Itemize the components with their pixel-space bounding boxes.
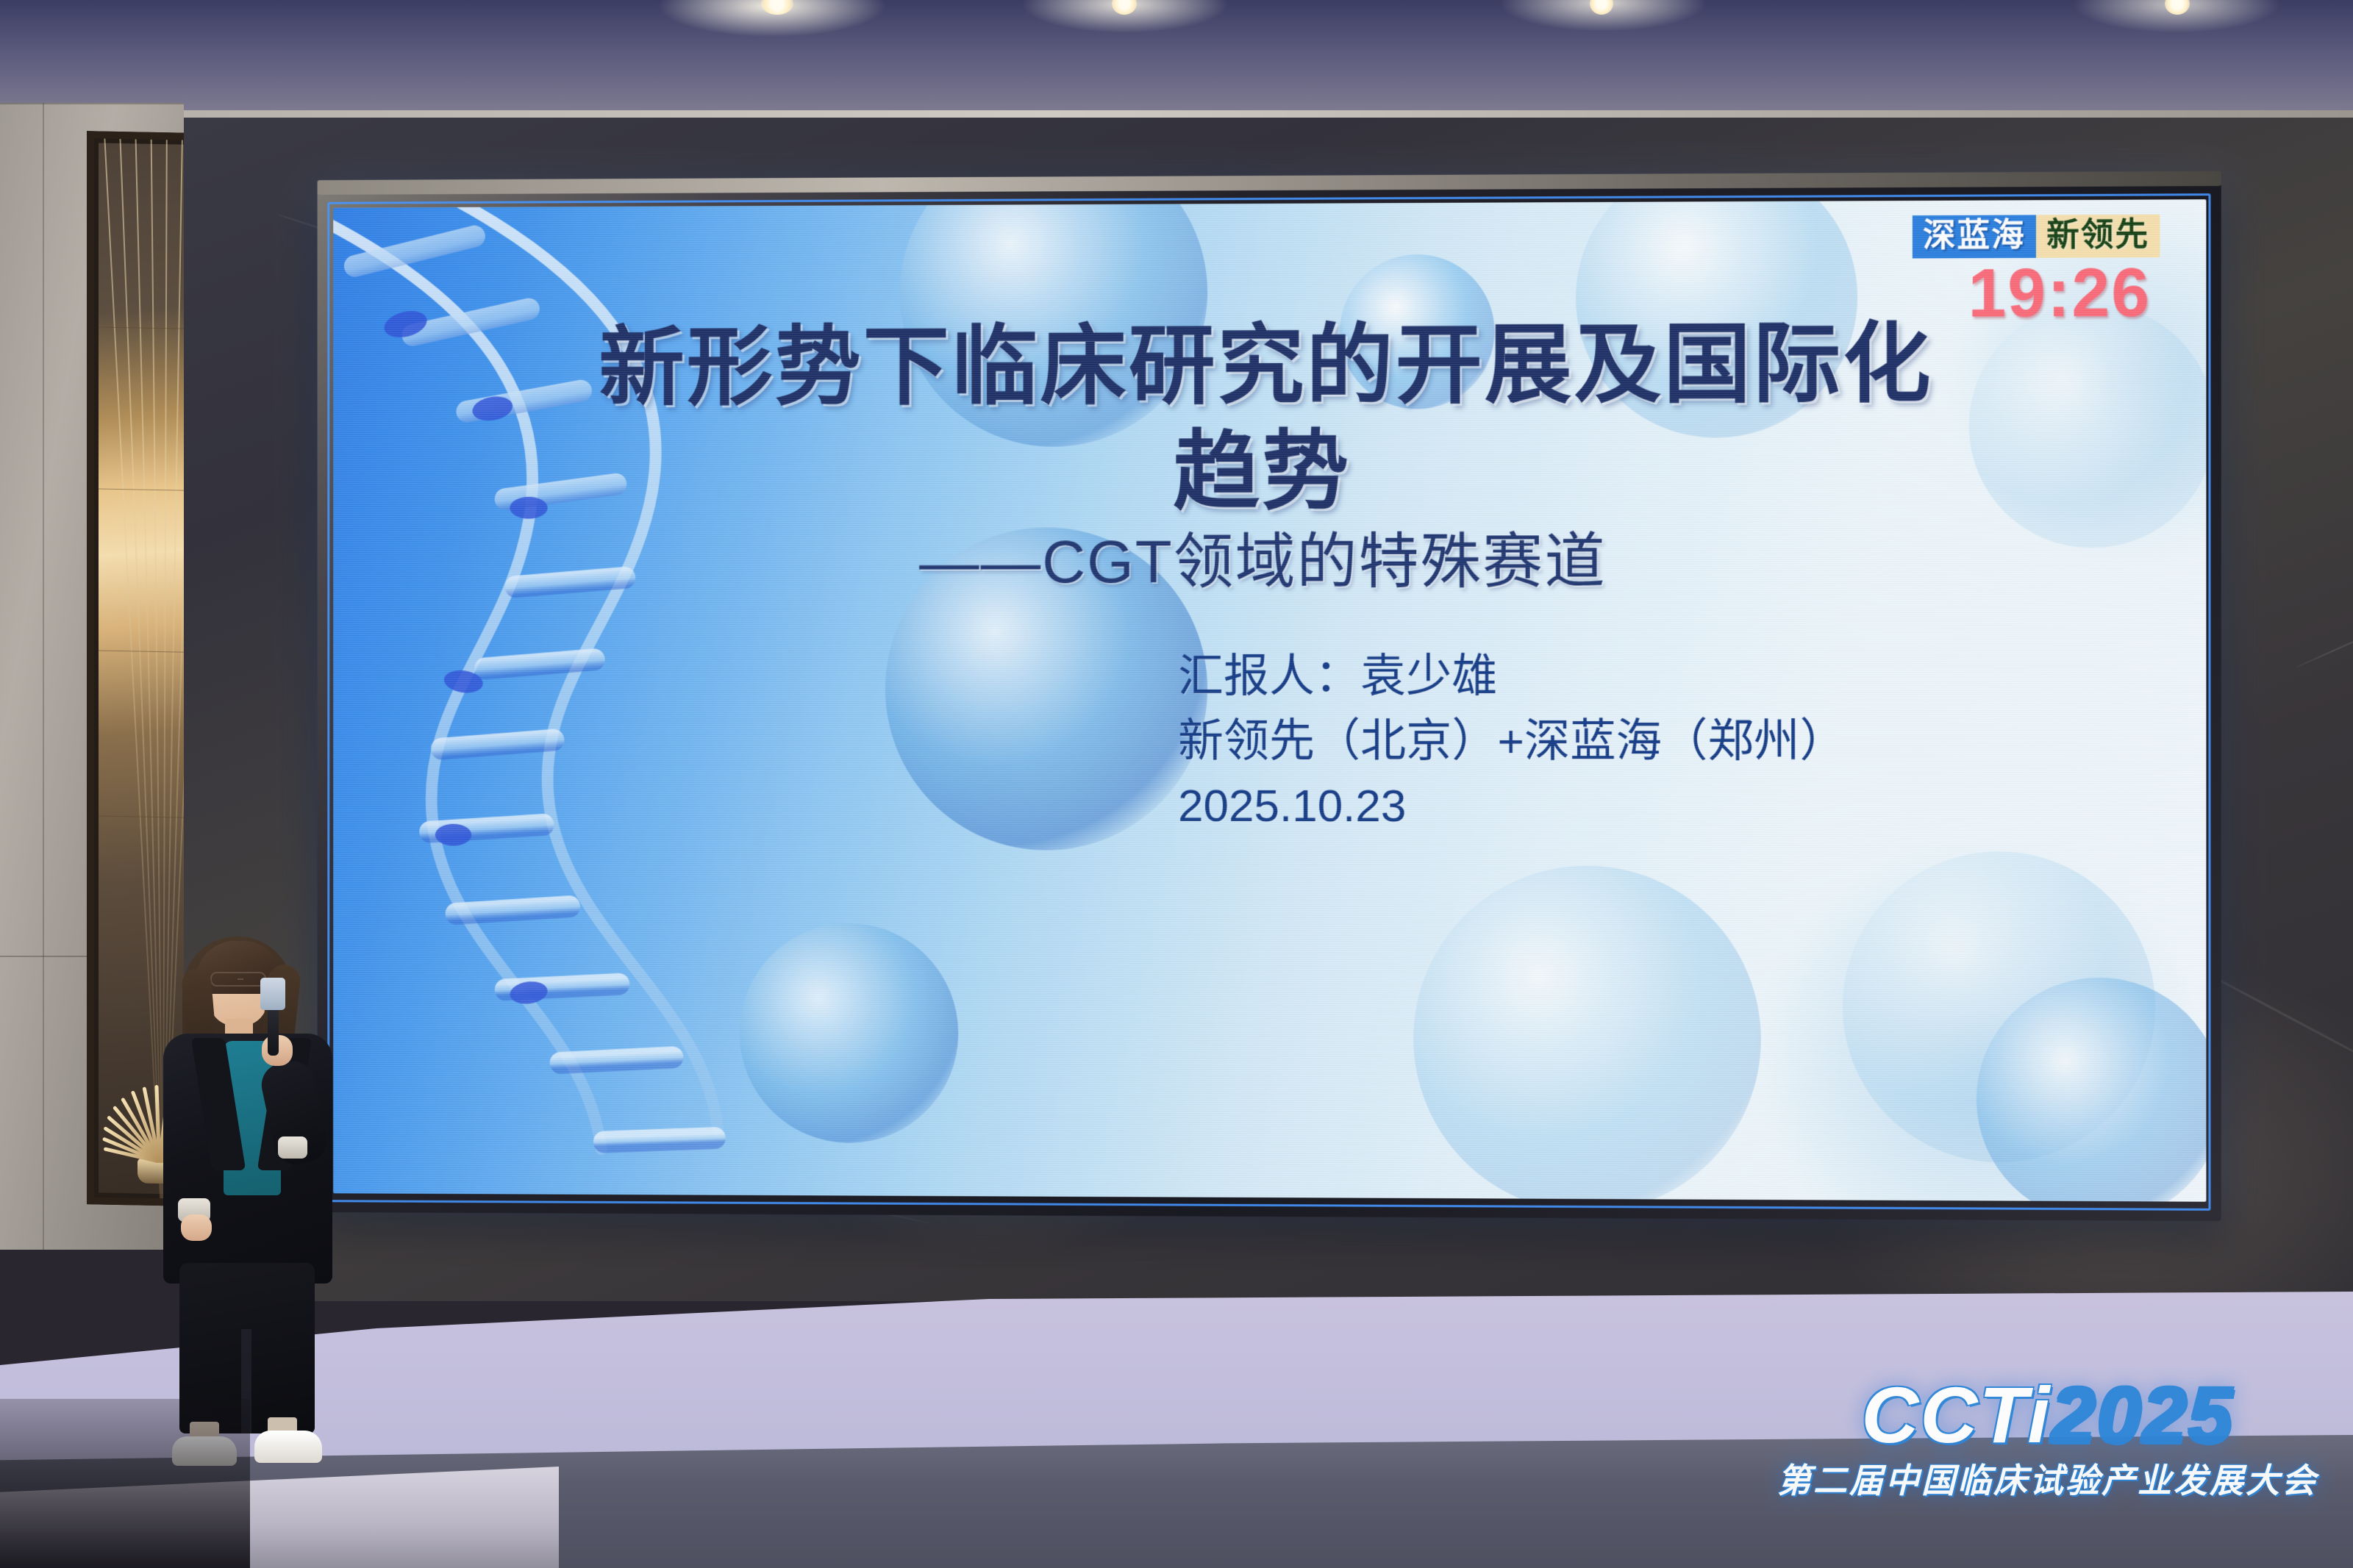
cell-blob xyxy=(1977,977,2207,1201)
cell-blob xyxy=(1969,303,2207,548)
badge-shenlanhai: 深蓝海 xyxy=(1913,215,2036,258)
ceiling-downlight-icon xyxy=(761,0,793,15)
speaker-shoe-right xyxy=(254,1431,322,1463)
presenter-affiliation: 新领先（北京）+深蓝海（郑州） xyxy=(1178,709,1846,775)
speaker-hand-left xyxy=(181,1214,212,1241)
badge-xinlingxian: 新领先 xyxy=(2036,215,2160,258)
conference-stage-photo: 新形势下临床研究的开展及国际化 趋势 ——CGT领域的特殊赛道 汇报人：袁少雄 … xyxy=(0,0,2353,1568)
ccti-brand: CCTi xyxy=(1861,1370,2051,1459)
screen-bezel: 新形势下临床研究的开展及国际化 趋势 ——CGT领域的特殊赛道 汇报人：袁少雄 … xyxy=(318,183,2221,1221)
presentation-date: 2025.10.23 xyxy=(1178,774,1846,840)
ceiling-downlight-icon xyxy=(1590,0,1613,15)
speaker-person xyxy=(144,917,365,1461)
speaker-glasses-icon xyxy=(210,972,266,987)
ccti-watermark: CCTi2025 第二届中国临床试验产业发展大会 xyxy=(1777,1375,2318,1497)
screen-edge-glow xyxy=(327,193,2210,1211)
wall-seam xyxy=(43,103,44,1250)
microphone-stem xyxy=(268,1007,279,1056)
speaker-cuff-right xyxy=(278,1136,307,1159)
cell-blob xyxy=(1576,199,1857,438)
presenter-name: 汇报人：袁少雄 xyxy=(1178,645,1846,709)
marble-vein xyxy=(2296,583,2353,668)
wall-top-trim xyxy=(184,110,2353,118)
clock-display: 19:26 xyxy=(1968,259,2151,328)
foreground-shadow xyxy=(0,1399,250,1568)
microphone-icon xyxy=(260,978,285,1010)
cell-blob xyxy=(1340,254,1495,409)
ccti-year: 2025 xyxy=(2051,1370,2233,1459)
ceiling-downlight-icon xyxy=(2165,0,2190,15)
ceiling-downlight-icon xyxy=(1112,0,1137,15)
cell-blob xyxy=(1843,851,2155,1163)
sponsor-badges: 深蓝海 新领先 xyxy=(1913,215,2160,259)
cell-blob xyxy=(1413,865,1761,1201)
ccti-subtitle: 第二届中国临床试验产业发展大会 xyxy=(1777,1464,2318,1497)
presenter-block: 汇报人：袁少雄 新领先（北京）+深蓝海（郑州） 2025.10.23 xyxy=(1178,645,1846,840)
led-screen[interactable]: 新形势下临床研究的开展及国际化 趋势 ——CGT领域的特殊赛道 汇报人：袁少雄 … xyxy=(318,183,2221,1221)
ccti-logo-text: CCTi2025 xyxy=(1777,1375,2318,1455)
